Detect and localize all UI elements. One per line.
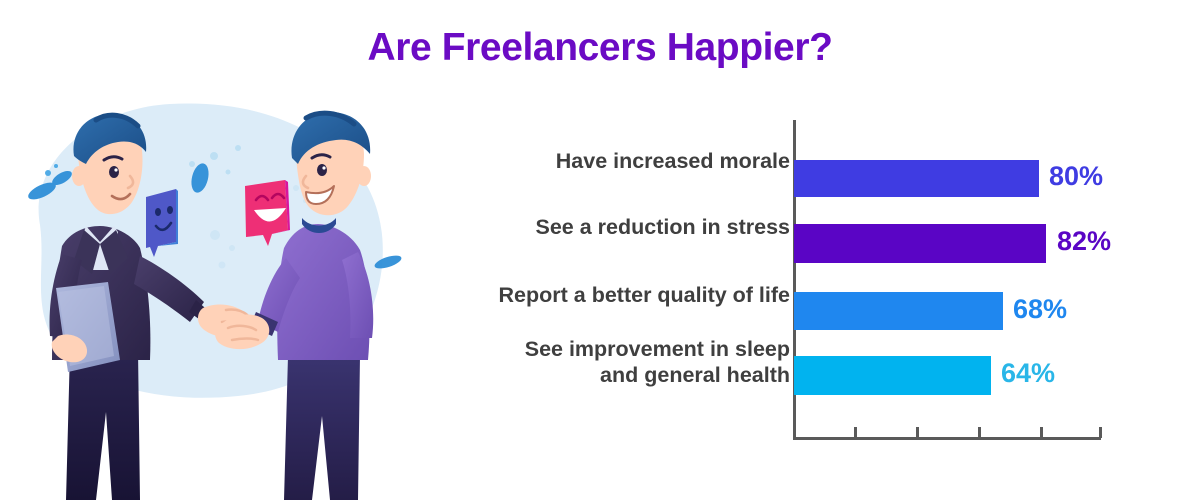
illustration-container — [0, 60, 420, 500]
bar-category-label: See improvement in sleep and general hea… — [460, 336, 790, 388]
x-axis-tick-1 — [854, 427, 857, 438]
bar-fill[interactable] — [794, 356, 991, 395]
bar-value-label: 68% — [1013, 294, 1067, 325]
bar-category-label-line1: See improvement in sleep — [460, 336, 790, 362]
bar-fill[interactable] — [794, 292, 1003, 330]
bar-row[interactable]: See a reduction in stress 82% — [420, 205, 1180, 269]
x-axis-line — [793, 437, 1101, 440]
bar-row[interactable]: See improvement in sleep and general hea… — [420, 338, 1180, 402]
bar-category-label: Report a better quality of life — [460, 282, 790, 308]
bar-fill[interactable] — [794, 160, 1039, 197]
bar-category-label-line2: and general health — [460, 362, 790, 388]
bar-category-label: See a reduction in stress — [460, 214, 790, 240]
bar-fill[interactable] — [794, 224, 1046, 263]
bar-value-label: 64% — [1001, 358, 1055, 389]
x-axis-tick-5 — [1099, 427, 1102, 438]
x-axis-tick-4 — [1040, 427, 1043, 438]
bar-category-label: Have increased morale — [460, 148, 790, 174]
bar-value-label: 82% — [1057, 226, 1111, 257]
x-axis-tick-2 — [916, 427, 919, 438]
bar-value-label: 80% — [1049, 161, 1103, 192]
bar-row[interactable]: Report a better quality of life 68% — [420, 272, 1180, 336]
bar-row[interactable]: Have increased morale 80% — [420, 140, 1180, 204]
bar-chart: Have increased morale 80% See a reductio… — [420, 120, 1180, 460]
x-axis-tick-3 — [978, 427, 981, 438]
